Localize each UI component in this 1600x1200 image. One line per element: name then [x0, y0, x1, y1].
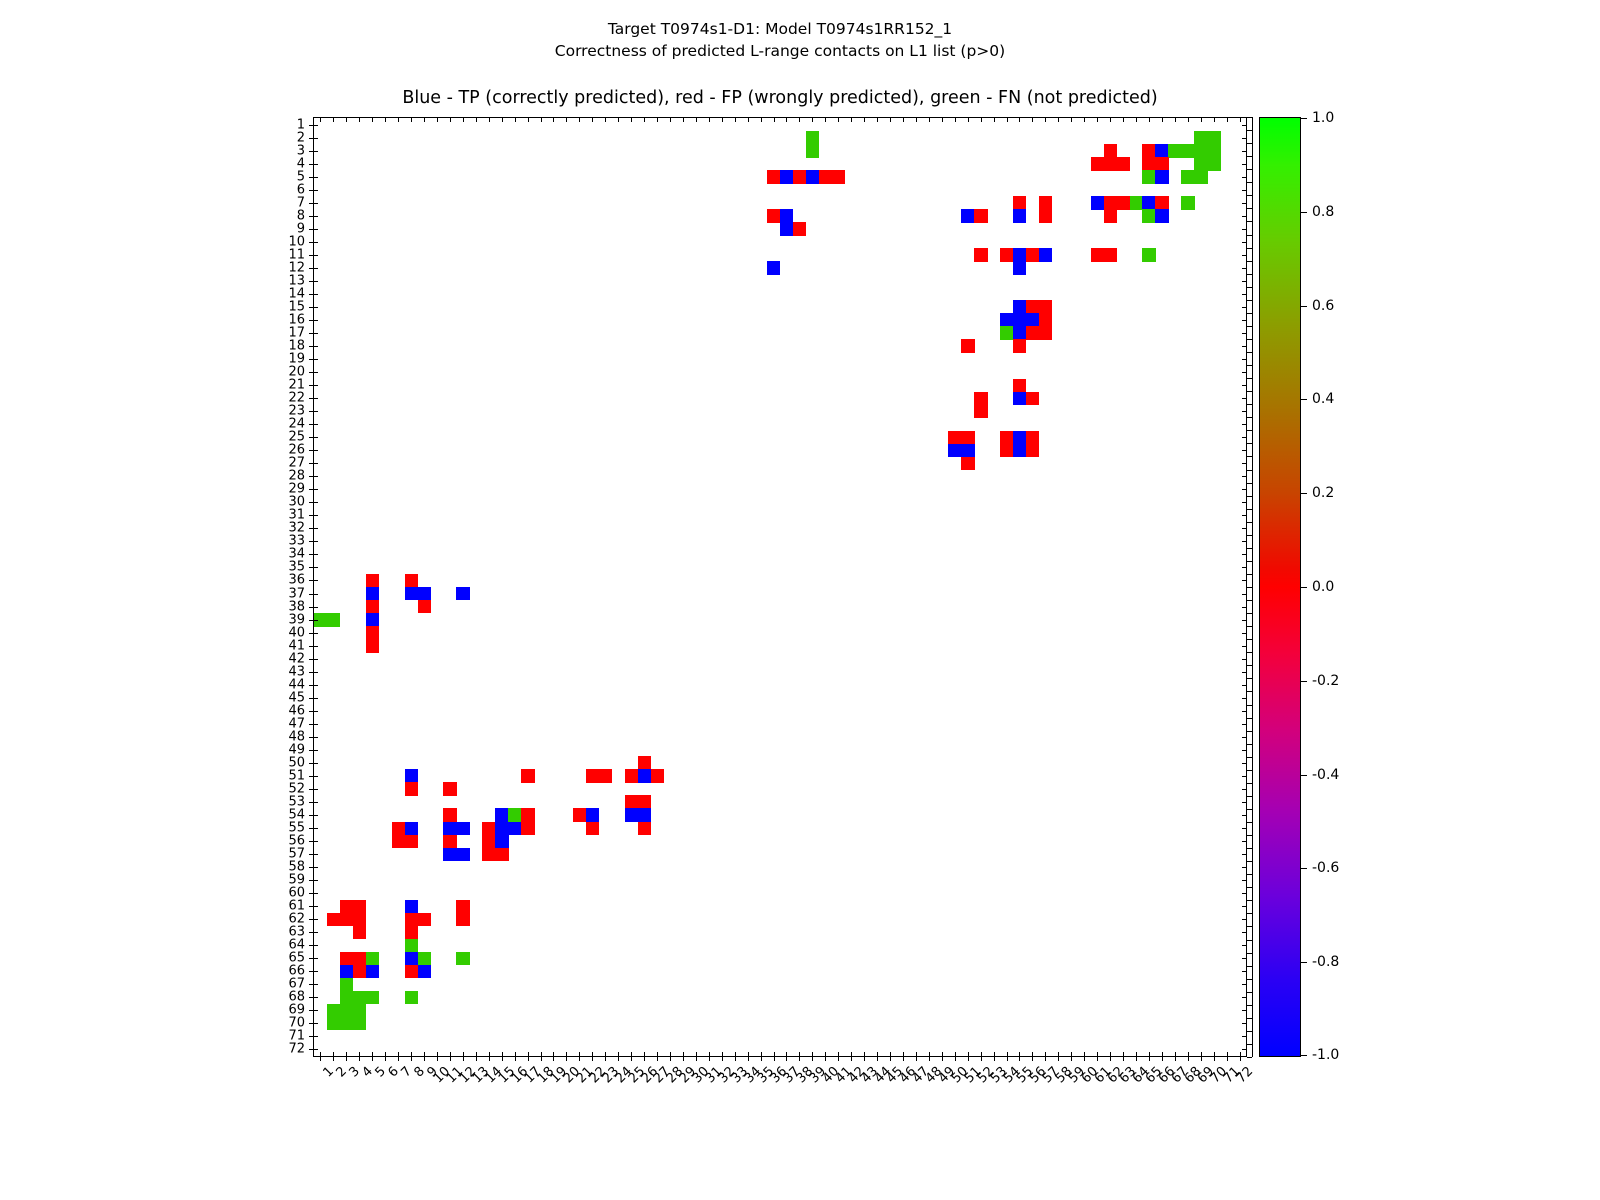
contact-cell-tp — [1013, 326, 1026, 339]
x-tick — [359, 1056, 360, 1061]
y-tick-right — [1242, 893, 1246, 894]
x-tick-inner — [359, 1052, 360, 1056]
x-tick-top — [1045, 118, 1046, 122]
x-tick-top — [955, 118, 956, 122]
y-tick-inner — [314, 307, 318, 308]
y-tick-inner — [314, 372, 318, 373]
y-tick-right — [1242, 776, 1246, 777]
contact-cell-tp — [405, 900, 418, 913]
contact-cell-fn — [1142, 170, 1155, 183]
contact-cell-fn — [1142, 209, 1155, 222]
colorbar-spine-tick — [1247, 600, 1252, 601]
x-tick — [851, 1056, 852, 1061]
contact-cell-fp — [1026, 392, 1039, 405]
contact-cell-fn — [1181, 144, 1194, 157]
contact-cell-fp — [767, 209, 780, 222]
x-tick-label: 39 — [817, 1064, 818, 1065]
contact-cell-fp — [405, 926, 418, 939]
x-tick-inner — [968, 1052, 969, 1056]
x-tick — [502, 1056, 503, 1061]
y-tick-right — [1242, 411, 1246, 412]
x-tick-label: 53 — [999, 1064, 1000, 1065]
contact-cell-fp — [948, 431, 961, 444]
colorbar-tick — [1300, 587, 1307, 588]
y-tick-inner — [314, 932, 318, 933]
x-tick-top — [1007, 118, 1008, 122]
y-tick-inner — [314, 242, 318, 243]
x-tick-label: 37 — [791, 1064, 792, 1065]
x-tick-inner — [955, 1052, 956, 1056]
x-tick-top — [411, 118, 412, 122]
colorbar-spine-tick — [1247, 796, 1252, 797]
x-tick-top — [683, 118, 684, 122]
colorbar-spine-tick — [1247, 287, 1252, 288]
x-tick-inner — [890, 1052, 891, 1056]
colorbar-spine-tick — [1247, 182, 1252, 183]
colorbar-spine-tick — [1247, 235, 1252, 236]
y-tick-right — [1242, 633, 1246, 634]
contact-cell-tp — [340, 965, 353, 978]
y-tick-right — [1242, 489, 1246, 490]
contact-cell-fp — [651, 769, 664, 782]
colorbar-tick — [1300, 212, 1307, 213]
contact-cell-fn — [1207, 157, 1220, 170]
contact-cell-fn — [806, 144, 819, 157]
contact-cell-fn — [1194, 144, 1207, 157]
colorbar-spine-tick — [1247, 1044, 1252, 1045]
x-tick-top — [994, 118, 995, 122]
x-tick — [528, 1056, 529, 1061]
x-tick-top — [424, 118, 425, 122]
colorbar-tick-label: 0.6 — [1312, 298, 1334, 314]
contact-cell-tp — [1039, 248, 1052, 261]
x-tick-label: 49 — [947, 1064, 948, 1065]
x-tick-inner — [942, 1052, 943, 1056]
y-tick-right — [1242, 554, 1246, 555]
colorbar-spine-tick — [1247, 1018, 1252, 1019]
colorbar-tick-label: -0.8 — [1312, 954, 1339, 970]
y-tick-inner — [314, 1023, 318, 1024]
y-tick-inner — [314, 177, 318, 178]
x-tick-label: 20 — [571, 1064, 572, 1065]
x-tick-inner — [1201, 1052, 1202, 1056]
x-tick — [476, 1056, 477, 1061]
x-tick-label: 35 — [766, 1064, 767, 1065]
x-tick-top — [864, 118, 865, 122]
contact-cell-tp — [625, 808, 638, 821]
y-tick-right — [1242, 672, 1246, 673]
contact-cell-fp — [1142, 144, 1155, 157]
x-tick — [1136, 1056, 1137, 1061]
y-tick-right — [1242, 1023, 1246, 1024]
x-tick-label: 28 — [675, 1064, 676, 1065]
x-tick-inner — [1175, 1052, 1176, 1056]
x-tick-top — [877, 118, 878, 122]
contact-cell-tp — [1013, 444, 1026, 457]
y-tick-right — [1242, 737, 1246, 738]
contact-cell-fp — [443, 808, 456, 821]
x-tick-label: 62 — [1115, 1064, 1116, 1065]
x-tick-top — [761, 118, 762, 122]
contact-cell-fp — [1039, 209, 1052, 222]
contact-cell-fp — [974, 209, 987, 222]
y-tick-right — [1242, 541, 1246, 542]
y-tick-right — [1242, 828, 1246, 829]
x-tick-label: 36 — [779, 1064, 780, 1065]
x-tick — [1123, 1056, 1124, 1061]
x-tick-inner — [877, 1052, 878, 1056]
x-tick-inner — [579, 1052, 580, 1056]
x-tick-top — [450, 118, 451, 122]
x-tick-inner — [825, 1052, 826, 1056]
x-tick-label: 22 — [597, 1064, 598, 1065]
contact-cell-fp — [405, 574, 418, 587]
x-tick-top — [644, 118, 645, 122]
x-tick-inner — [1136, 1052, 1137, 1056]
x-tick-inner — [1188, 1052, 1189, 1056]
y-tick-inner — [314, 880, 318, 881]
contact-cell-tp — [1000, 313, 1013, 326]
y-tick-inner — [314, 203, 318, 204]
x-tick — [385, 1056, 386, 1061]
contact-cell-tp — [366, 965, 379, 978]
x-tick-top — [1071, 118, 1072, 122]
x-tick — [838, 1056, 839, 1061]
contact-cell-fp — [405, 913, 418, 926]
y-tick-right — [1242, 320, 1246, 321]
y-tick-label: 72 — [288, 1043, 305, 1056]
x-tick — [1084, 1056, 1085, 1061]
x-tick-label: 45 — [895, 1064, 896, 1065]
contact-cell-fp — [418, 600, 431, 613]
colorbar-spine-tick — [1247, 509, 1252, 510]
contact-cell-fn — [353, 1004, 366, 1017]
colorbar-spine-tick — [1247, 848, 1252, 849]
colorbar-spine-tick — [1247, 613, 1252, 614]
x-tick-label: 26 — [649, 1064, 650, 1065]
y-tick-inner — [314, 724, 318, 725]
y-tick-inner — [314, 528, 318, 529]
x-tick — [437, 1056, 438, 1061]
x-tick — [722, 1056, 723, 1061]
x-tick-inner — [657, 1052, 658, 1056]
y-tick-inner — [314, 802, 318, 803]
x-tick-label: 24 — [623, 1064, 624, 1065]
colorbar-spine-tick — [1247, 208, 1252, 209]
x-tick-inner — [903, 1052, 904, 1056]
y-tick-right — [1242, 1036, 1246, 1037]
contact-cell-fp — [340, 952, 353, 965]
contact-cell-fn — [405, 991, 418, 1004]
y-tick-right — [1242, 372, 1246, 373]
x-tick-inner — [1019, 1052, 1020, 1056]
x-tick — [1071, 1056, 1072, 1061]
y-tick-right — [1242, 437, 1246, 438]
y-tick-inner — [314, 281, 318, 282]
x-tick — [1110, 1056, 1111, 1061]
y-tick-right — [1242, 385, 1246, 386]
x-tick-top — [437, 118, 438, 122]
y-tick-inner — [314, 672, 318, 673]
x-tick — [786, 1056, 787, 1061]
x-tick-inner — [489, 1052, 490, 1056]
y-tick-right — [1242, 802, 1246, 803]
colorbar-spine-tick — [1247, 705, 1252, 706]
contact-cell-fp — [340, 913, 353, 926]
x-tick-label: 68 — [1193, 1064, 1194, 1065]
contact-cell-fp — [1026, 326, 1039, 339]
colorbar-tick — [1300, 399, 1307, 400]
y-tick-inner — [314, 216, 318, 217]
y-tick-inner — [314, 620, 318, 621]
x-tick-top — [812, 118, 813, 122]
contact-cell-fp — [832, 170, 845, 183]
contact-cell-tp — [405, 952, 418, 965]
y-tick-right — [1242, 164, 1246, 165]
x-tick-inner — [929, 1052, 930, 1056]
x-tick-label: 16 — [520, 1064, 521, 1065]
contact-cell-tp — [961, 444, 974, 457]
y-tick-right — [1242, 1010, 1246, 1011]
x-tick-label: 55 — [1024, 1064, 1025, 1065]
x-tick-top — [359, 118, 360, 122]
contact-cell-fp — [1013, 339, 1026, 352]
x-tick-label: 64 — [1141, 1064, 1142, 1065]
x-tick-label: 40 — [830, 1064, 831, 1065]
x-tick — [877, 1056, 878, 1061]
x-tick — [605, 1056, 606, 1061]
contact-cell-fp — [405, 965, 418, 978]
x-tick-label: 25 — [636, 1064, 637, 1065]
x-tick-label: 71 — [1232, 1064, 1233, 1065]
y-tick-inner — [314, 958, 318, 959]
contact-cell-fp — [392, 822, 405, 835]
x-tick-top — [825, 118, 826, 122]
contact-cell-tp — [1013, 261, 1026, 274]
y-tick-right — [1242, 724, 1246, 725]
colorbar-tick-label: -1.0 — [1312, 1047, 1339, 1063]
x-tick — [1162, 1056, 1163, 1061]
y-tick-inner — [314, 125, 318, 126]
contact-cell-tp — [418, 587, 431, 600]
y-tick-inner — [314, 333, 318, 334]
y-tick-inner — [314, 385, 318, 386]
contact-cell-tp — [1155, 170, 1168, 183]
x-tick-label: 41 — [843, 1064, 844, 1065]
x-tick-top — [1162, 118, 1163, 122]
y-tick-inner — [314, 906, 318, 907]
x-tick-inner — [722, 1052, 723, 1056]
x-tick-top — [1097, 118, 1098, 122]
x-tick-inner — [1007, 1052, 1008, 1056]
contact-cell-fn — [353, 991, 366, 1004]
contact-cell-fp — [767, 170, 780, 183]
x-tick-inner — [618, 1052, 619, 1056]
x-tick — [981, 1056, 982, 1061]
y-tick-inner — [314, 294, 318, 295]
colorbar-spine-tick — [1247, 861, 1252, 862]
y-tick-right — [1242, 919, 1246, 920]
x-tick-label: 42 — [856, 1064, 857, 1065]
x-tick — [489, 1056, 490, 1061]
colorbar-tick — [1300, 962, 1307, 963]
contact-cell-fn — [327, 1004, 340, 1017]
colorbar-spine-tick — [1247, 130, 1252, 131]
x-tick-label: 10 — [442, 1064, 443, 1065]
x-tick — [644, 1056, 645, 1061]
contact-cell-fp — [638, 756, 651, 769]
x-tick-label: 69 — [1206, 1064, 1207, 1065]
y-tick-right — [1242, 971, 1246, 972]
x-tick-top — [1123, 118, 1124, 122]
contact-cell-fn — [1194, 157, 1207, 170]
x-tick-top — [799, 118, 800, 122]
x-tick-top — [786, 118, 787, 122]
y-tick-inner — [314, 633, 318, 634]
colorbar-spine-tick — [1247, 443, 1252, 444]
contact-cell-fn — [327, 613, 340, 626]
x-tick-top — [463, 118, 464, 122]
x-tick-top — [916, 118, 917, 122]
colorbar-tick — [1300, 681, 1307, 682]
contact-cell-tp — [1091, 196, 1104, 209]
colorbar-spine-tick — [1247, 966, 1252, 967]
contact-cell-fp — [495, 848, 508, 861]
contact-cell-fp — [366, 639, 379, 652]
colorbar-spine-tick — [1247, 313, 1252, 314]
x-tick-inner — [786, 1052, 787, 1056]
contact-cell-tp — [1155, 144, 1168, 157]
x-tick-label: 57 — [1050, 1064, 1051, 1065]
contact-cell-fp — [974, 392, 987, 405]
contact-map-plot[interactable]: 1234567891011121314151617181920212223242… — [313, 117, 1247, 1057]
y-tick-inner — [314, 763, 318, 764]
x-tick — [424, 1056, 425, 1061]
colorbar-spine-tick — [1247, 548, 1252, 549]
x-tick-inner — [1149, 1052, 1150, 1056]
contact-cell-tp — [1013, 392, 1026, 405]
y-tick-right — [1242, 190, 1246, 191]
colorbar-spine-tick — [1247, 300, 1252, 301]
contact-cell-fn — [327, 1017, 340, 1030]
contact-cell-fn — [1168, 144, 1181, 157]
contact-cell-tp — [638, 808, 651, 821]
contact-cell-fp — [1000, 431, 1013, 444]
colorbar-spine-tick — [1247, 143, 1252, 144]
x-tick-top — [1136, 118, 1137, 122]
x-tick-inner — [450, 1052, 451, 1056]
contact-cell-fp — [353, 900, 366, 913]
colorbar: 1.00.80.60.40.20.0-0.2-0.4-0.6-0.8-1.0 — [1259, 117, 1301, 1057]
x-tick-label: 56 — [1037, 1064, 1038, 1065]
contact-cell-tp — [780, 209, 793, 222]
colorbar-spine-tick — [1247, 1005, 1252, 1006]
x-tick — [463, 1056, 464, 1061]
x-tick-top — [748, 118, 749, 122]
contact-cell-fp — [1104, 209, 1117, 222]
x-tick-inner — [761, 1052, 762, 1056]
x-tick-label: 5 — [377, 1064, 378, 1065]
x-tick-inner — [1084, 1052, 1085, 1056]
contact-cell-fp — [456, 913, 469, 926]
x-tick-top — [1188, 118, 1189, 122]
x-tick-label: 33 — [740, 1064, 741, 1065]
contact-cell-tp — [586, 808, 599, 821]
x-tick — [825, 1056, 826, 1061]
colorbar-spine-tick — [1247, 665, 1252, 666]
y-tick-inner — [314, 1010, 318, 1011]
x-tick-label: 2 — [338, 1064, 339, 1065]
x-tick-inner — [1123, 1052, 1124, 1056]
x-tick-top — [1058, 118, 1059, 122]
y-tick-right — [1242, 502, 1246, 503]
colorbar-spine-tick — [1247, 1057, 1252, 1058]
x-tick-inner — [541, 1052, 542, 1056]
x-tick-top — [320, 118, 321, 122]
contact-cell-fp — [599, 769, 612, 782]
colorbar-tick-label: 1.0 — [1312, 110, 1334, 126]
contact-cell-fn — [340, 1004, 353, 1017]
x-tick-label: 67 — [1180, 1064, 1181, 1065]
x-tick — [929, 1056, 930, 1061]
y-tick-right — [1242, 1049, 1246, 1050]
x-tick-label: 51 — [973, 1064, 974, 1065]
contact-cell-tp — [1026, 313, 1039, 326]
contact-cell-fp — [961, 457, 974, 470]
x-tick-label: 17 — [533, 1064, 534, 1065]
x-tick-top — [1214, 118, 1215, 122]
contact-cell-fp — [1013, 196, 1026, 209]
y-tick-right — [1242, 242, 1246, 243]
x-tick-label: 21 — [584, 1064, 585, 1065]
colorbar-tick — [1300, 868, 1307, 869]
x-tick-top — [385, 118, 386, 122]
contact-cell-tp — [405, 587, 418, 600]
contact-cell-fp — [638, 822, 651, 835]
colorbar-spine-tick — [1247, 221, 1252, 222]
colorbar-spine-tick — [1247, 326, 1252, 327]
y-tick-inner — [314, 463, 318, 464]
x-tick — [670, 1056, 671, 1061]
colorbar-spine-tick — [1247, 913, 1252, 914]
colorbar-spine-tick — [1247, 430, 1252, 431]
x-tick-label: 27 — [662, 1064, 663, 1065]
y-tick-inner — [314, 841, 318, 842]
x-tick-label: 60 — [1089, 1064, 1090, 1065]
contact-cell-fp — [456, 900, 469, 913]
x-tick-inner — [385, 1052, 386, 1056]
contact-cell-fp — [353, 952, 366, 965]
contact-cell-fp — [521, 769, 534, 782]
y-tick-inner — [314, 346, 318, 347]
contact-cell-fn — [1207, 144, 1220, 157]
y-tick-right — [1242, 567, 1246, 568]
y-tick-inner — [314, 893, 318, 894]
contact-cell-fn — [405, 939, 418, 952]
y-tick-right — [1242, 229, 1246, 230]
y-tick-inner — [314, 711, 318, 712]
colorbar-spine-tick — [1247, 744, 1252, 745]
colorbar-spine-tick — [1247, 352, 1252, 353]
x-tick — [1058, 1056, 1059, 1061]
y-tick-right — [1242, 867, 1246, 868]
x-tick-top — [1149, 118, 1150, 122]
colorbar-spine-tick — [1247, 195, 1252, 196]
y-tick-inner — [314, 685, 318, 686]
contact-cell-fn — [340, 978, 353, 991]
x-tick-top — [502, 118, 503, 122]
y-tick-right — [1242, 255, 1246, 256]
